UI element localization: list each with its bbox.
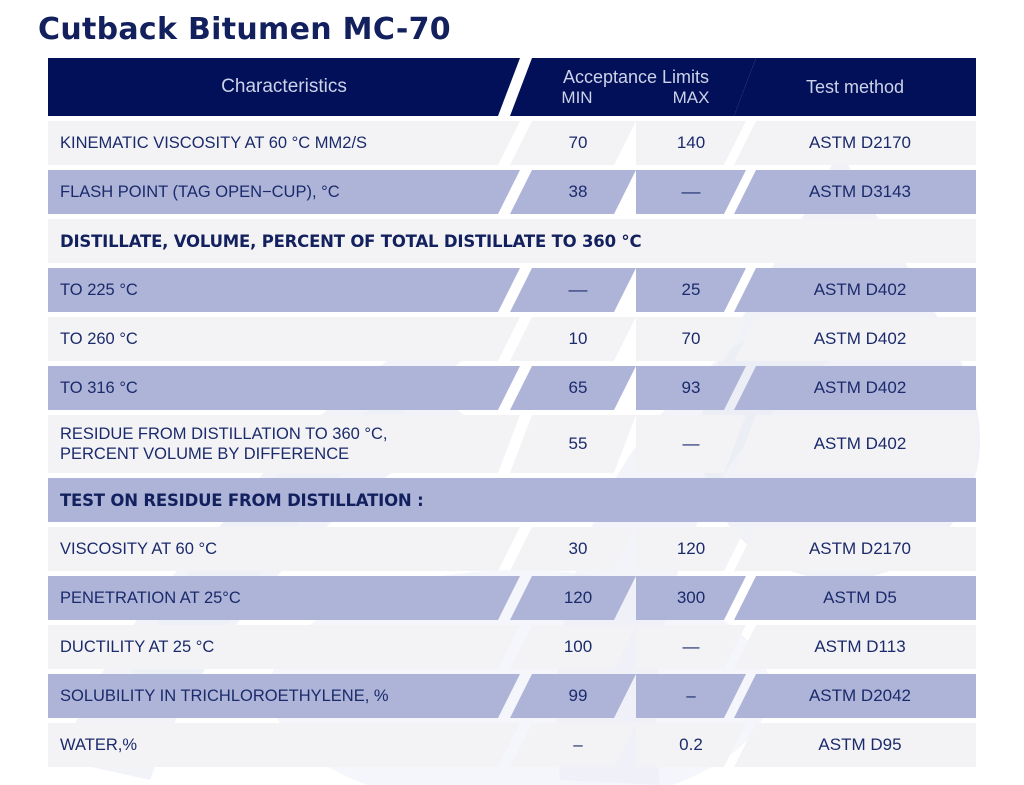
cell-characteristic: FLASH POINT (TAG OPEN−CUP), °C bbox=[48, 170, 520, 214]
page-title: Cutback Bitumen MC-70 bbox=[38, 12, 451, 47]
header-min-label: MIN bbox=[510, 88, 636, 108]
table-header-row: Characteristics Acceptance Limits MIN MA… bbox=[48, 58, 976, 116]
cell-max-value: 93 bbox=[636, 366, 746, 410]
table-body: KINEMATIC VISCOSITY AT 60 °C MM2/S70140A… bbox=[48, 121, 976, 767]
cell-characteristic: KINEMATIC VISCOSITY AT 60 °C MM2/S bbox=[48, 121, 520, 165]
cell-test-method: ASTM D95 bbox=[734, 723, 976, 767]
cell-min-value: 100 bbox=[510, 625, 636, 669]
cell-max-value: — bbox=[636, 415, 746, 473]
cell-min-value: 55 bbox=[510, 415, 636, 473]
characteristic-line-1: WATER,% bbox=[60, 736, 137, 754]
characteristic-line-1: RESIDUE FROM DISTILLATION TO 360 °C, bbox=[60, 425, 388, 443]
cell-test-method: ASTM D5 bbox=[734, 576, 976, 620]
cell-characteristic: PENETRATION AT 25°C bbox=[48, 576, 520, 620]
table-row: FLASH POINT (TAG OPEN−CUP), °C38––ASTM D… bbox=[48, 170, 976, 214]
characteristic-line-1: SOLUBILITY IN TRICHLOROETHYLENE, % bbox=[60, 687, 389, 705]
cell-test-method: ASTM D402 bbox=[734, 268, 976, 312]
characteristic-line-1: TO 316 °C bbox=[60, 379, 138, 397]
characteristic-line-1: TO 225 °C bbox=[60, 281, 138, 299]
characteristic-text: TO 316 °C bbox=[60, 378, 138, 398]
cell-test-method: ASTM D2170 bbox=[734, 121, 976, 165]
characteristic-line-2: PERCENT VOLUME BY DIFFERENCE bbox=[60, 444, 388, 464]
characteristic-text: VISCOSITY AT 60 °C bbox=[60, 539, 217, 559]
characteristic-line-1: FLASH POINT (TAG OPEN−CUP), °C bbox=[60, 183, 340, 201]
header-characteristics-label: Characteristics bbox=[221, 76, 347, 98]
cell-characteristic: TO 260 °C bbox=[48, 317, 520, 361]
specification-table: Characteristics Acceptance Limits MIN MA… bbox=[48, 58, 976, 772]
cell-characteristic: VISCOSITY AT 60 °C bbox=[48, 527, 520, 571]
cell-test-method: ASTM D402 bbox=[734, 366, 976, 410]
cell-characteristic: DUCTILITY AT 25 °C bbox=[48, 625, 520, 669]
cell-min-value: 30 bbox=[510, 527, 636, 571]
header-limits-subrow: MIN MAX bbox=[510, 88, 756, 108]
cell-characteristic: WATER,% bbox=[48, 723, 520, 767]
characteristic-text: PENETRATION AT 25°C bbox=[60, 588, 241, 608]
header-acceptance-limits-label: Acceptance Limits bbox=[510, 66, 756, 88]
header-test-method-label: Test method bbox=[806, 77, 904, 98]
characteristic-line-1: TO 260 °C bbox=[60, 330, 138, 348]
cell-min-value: 38 bbox=[510, 170, 636, 214]
cell-min-value: –– bbox=[510, 268, 636, 312]
cell-characteristic: TO 225 °C bbox=[48, 268, 520, 312]
cell-test-method: ASTM D113 bbox=[734, 625, 976, 669]
header-test-method: Test method bbox=[734, 58, 976, 116]
characteristic-text: SOLUBILITY IN TRICHLOROETHYLENE, % bbox=[60, 686, 389, 706]
cell-min-value: 70 bbox=[510, 121, 636, 165]
header-characteristics: Characteristics bbox=[48, 58, 520, 116]
characteristic-text: FLASH POINT (TAG OPEN−CUP), °C bbox=[60, 182, 340, 202]
characteristic-text: TO 225 °C bbox=[60, 280, 138, 300]
characteristic-text: TO 260 °C bbox=[60, 329, 138, 349]
cell-max-value: 120 bbox=[636, 527, 746, 571]
spec-sheet-page: Cutback Bitumen MC-70 Characteristics Ac… bbox=[0, 0, 1024, 785]
table-row: TO 260 °C1070ASTM D402 bbox=[48, 317, 976, 361]
cell-max-value: 70 bbox=[636, 317, 746, 361]
header-max-label: MAX bbox=[636, 88, 746, 108]
cell-test-method: ASTM D402 bbox=[734, 415, 976, 473]
table-row: RESIDUE FROM DISTILLATION TO 360 °C,PERC… bbox=[48, 415, 976, 473]
characteristic-line-1: DUCTILITY AT 25 °C bbox=[60, 638, 214, 656]
cell-min-value: 99 bbox=[510, 674, 636, 718]
table-row: DUCTILITY AT 25 °C100—ASTM D113 bbox=[48, 625, 976, 669]
cell-min-value: – bbox=[510, 723, 636, 767]
characteristic-text: DUCTILITY AT 25 °C bbox=[60, 637, 214, 657]
table-row: TO 316 °C6593ASTM D402 bbox=[48, 366, 976, 410]
cell-characteristic: SOLUBILITY IN TRICHLOROETHYLENE, % bbox=[48, 674, 520, 718]
cell-min-value: 65 bbox=[510, 366, 636, 410]
cell-min-value: 10 bbox=[510, 317, 636, 361]
section-header-label: TEST ON RESIDUE FROM DISTILLATION : bbox=[48, 478, 976, 522]
characteristic-line-1: PENETRATION AT 25°C bbox=[60, 589, 241, 607]
table-row: SOLUBILITY IN TRICHLOROETHYLENE, %99–AST… bbox=[48, 674, 976, 718]
characteristic-text: KINEMATIC VISCOSITY AT 60 °C MM2/S bbox=[60, 133, 367, 153]
cell-test-method: ASTM D3143 bbox=[734, 170, 976, 214]
table-row: KINEMATIC VISCOSITY AT 60 °C MM2/S70140A… bbox=[48, 121, 976, 165]
characteristic-text: RESIDUE FROM DISTILLATION TO 360 °C,PERC… bbox=[60, 424, 388, 464]
cell-test-method: ASTM D402 bbox=[734, 317, 976, 361]
cell-test-method: ASTM D2042 bbox=[734, 674, 976, 718]
table-row: PENETRATION AT 25°C120300ASTM D5 bbox=[48, 576, 976, 620]
section-header-label: DISTILLATE, VOLUME, PERCENT OF TOTAL DIS… bbox=[48, 219, 976, 263]
cell-max-value: 0.2 bbox=[636, 723, 746, 767]
table-row: VISCOSITY AT 60 °C30120ASTM D2170 bbox=[48, 527, 976, 571]
cell-max-value: — bbox=[636, 625, 746, 669]
characteristic-line-1: KINEMATIC VISCOSITY AT 60 °C MM2/S bbox=[60, 134, 367, 152]
cell-max-value: 300 bbox=[636, 576, 746, 620]
characteristic-text: WATER,% bbox=[60, 735, 137, 755]
cell-min-value: 120 bbox=[510, 576, 636, 620]
cell-max-value: –– bbox=[636, 170, 746, 214]
cell-max-value: – bbox=[636, 674, 746, 718]
cell-max-value: 25 bbox=[636, 268, 746, 312]
cell-test-method: ASTM D2170 bbox=[734, 527, 976, 571]
table-row: WATER,%–0.2ASTM D95 bbox=[48, 723, 976, 767]
characteristic-line-1: VISCOSITY AT 60 °C bbox=[60, 540, 217, 558]
table-section-header-row: DISTILLATE, VOLUME, PERCENT OF TOTAL DIS… bbox=[48, 219, 976, 263]
table-section-header-row: TEST ON RESIDUE FROM DISTILLATION : bbox=[48, 478, 976, 522]
cell-characteristic: TO 316 °C bbox=[48, 366, 520, 410]
header-acceptance-limits: Acceptance Limits MIN MAX bbox=[510, 58, 756, 116]
table-row: TO 225 °C––25ASTM D402 bbox=[48, 268, 976, 312]
cell-max-value: 140 bbox=[636, 121, 746, 165]
cell-characteristic: RESIDUE FROM DISTILLATION TO 360 °C,PERC… bbox=[48, 415, 520, 473]
